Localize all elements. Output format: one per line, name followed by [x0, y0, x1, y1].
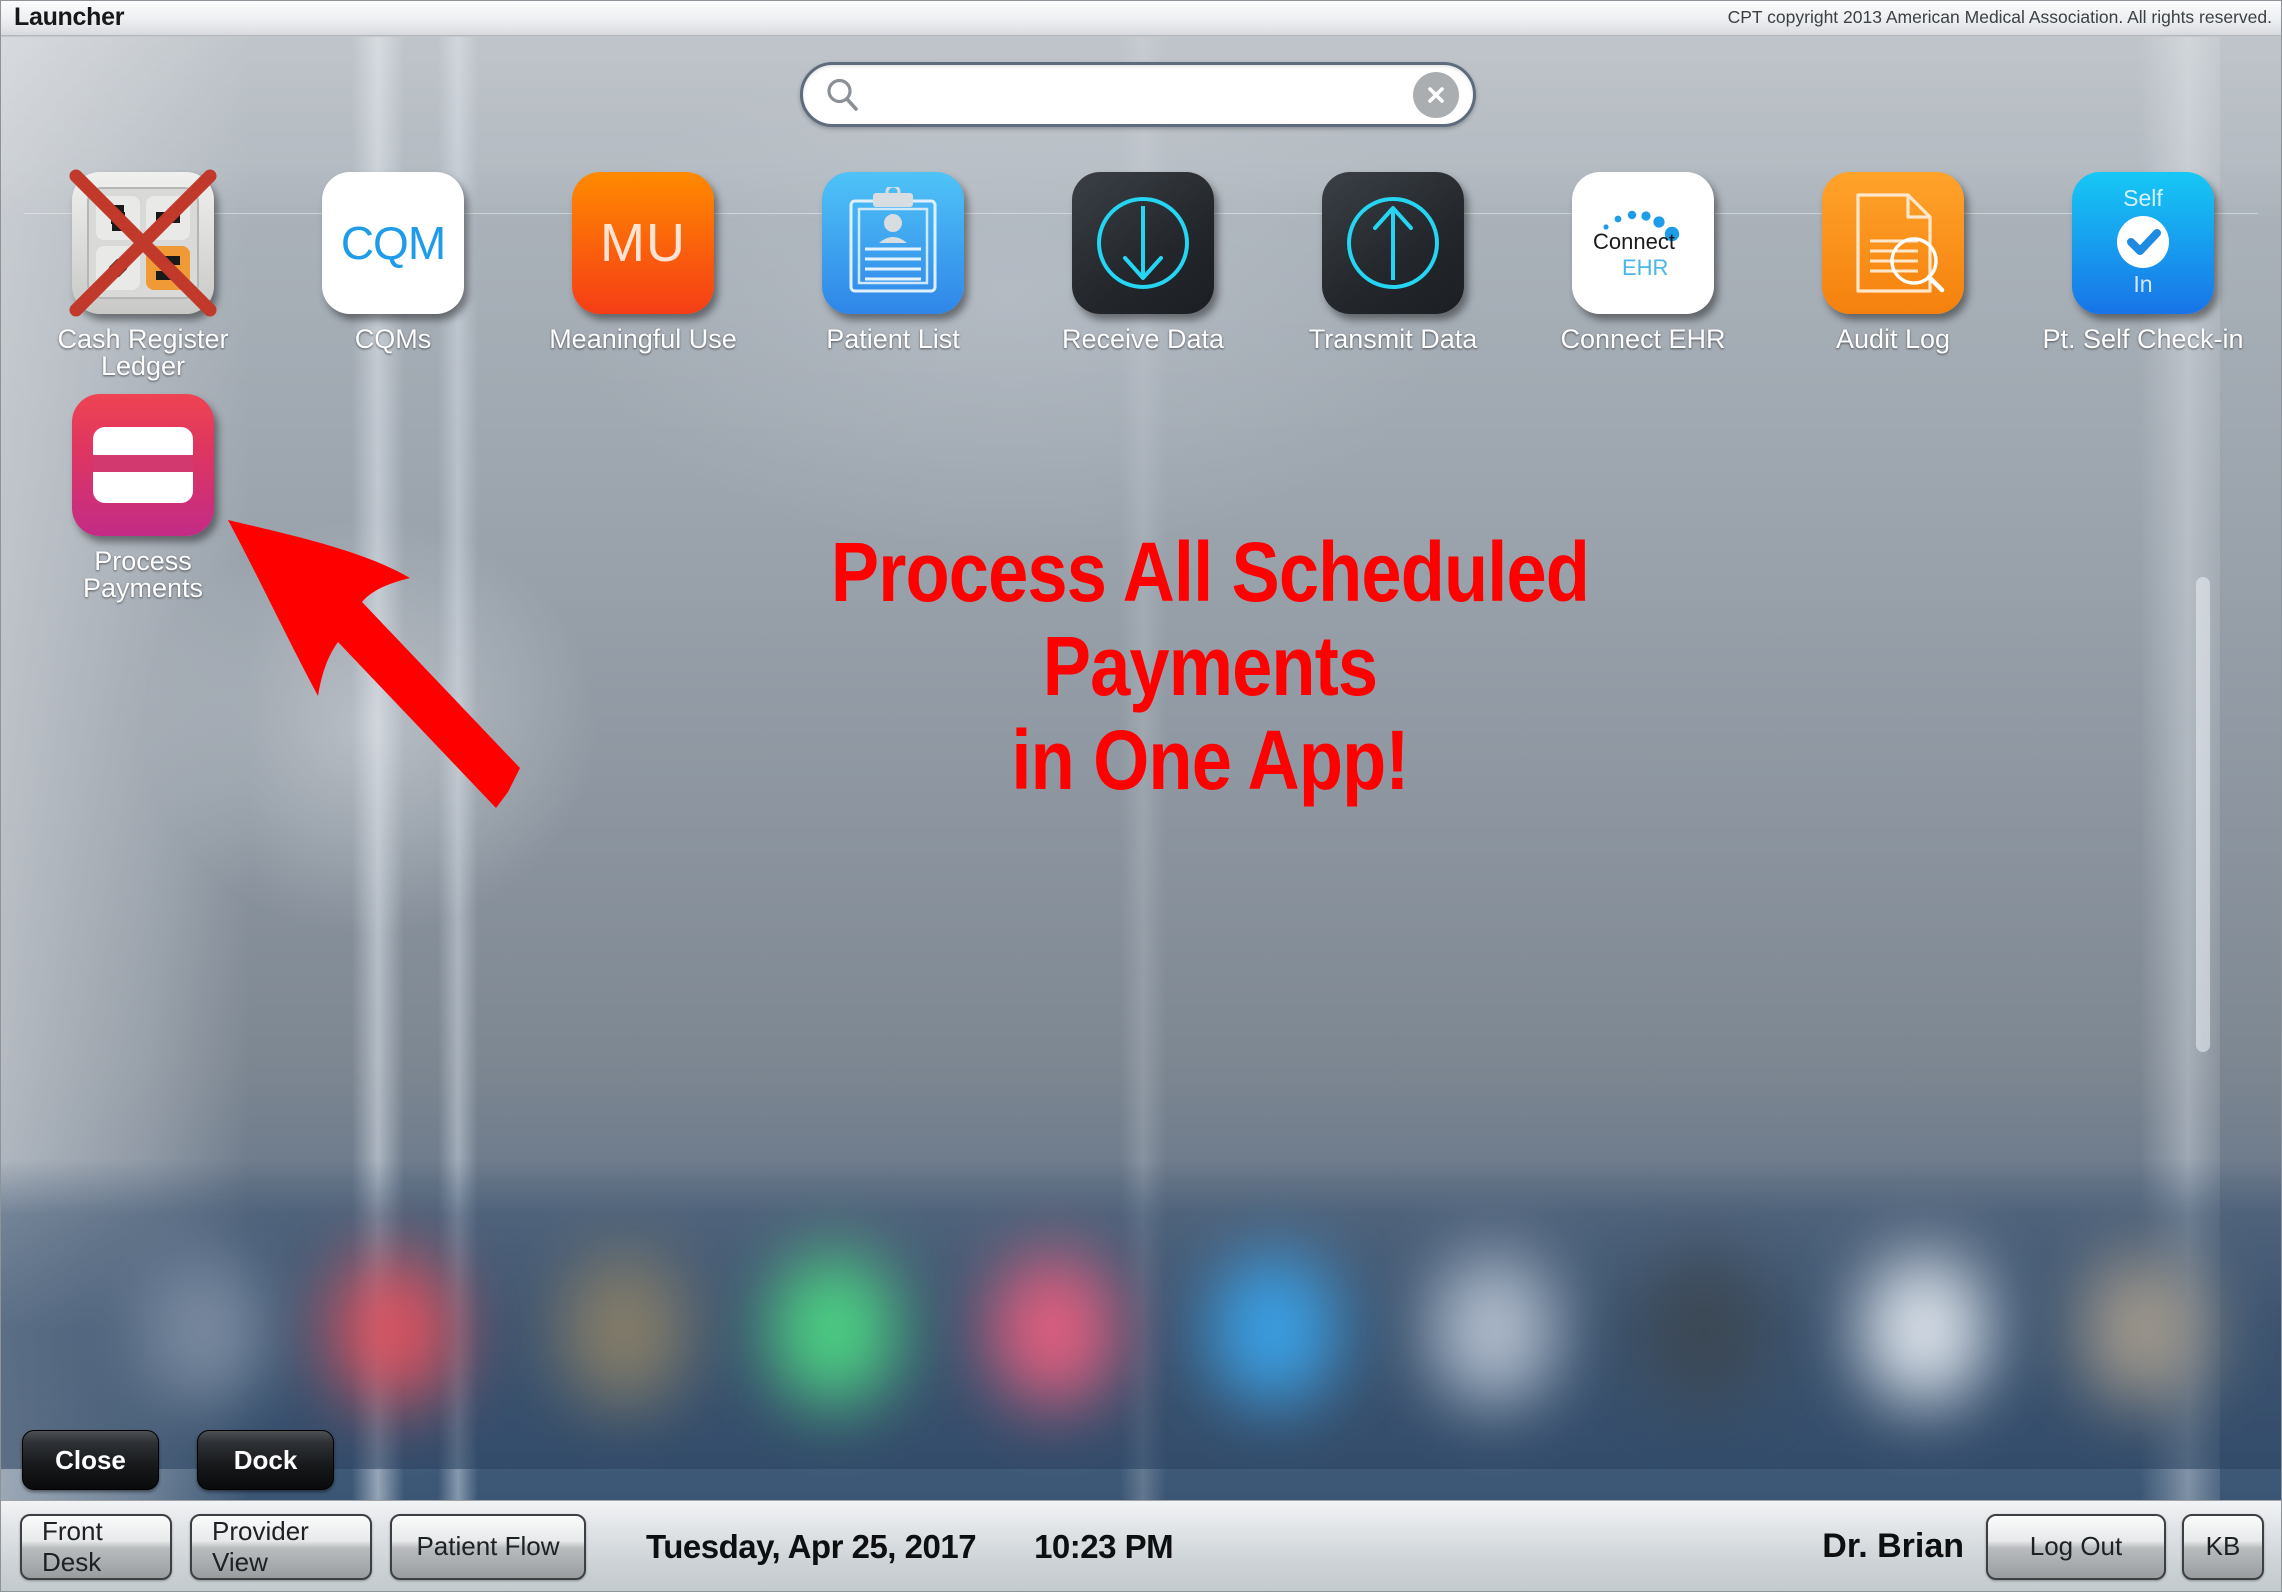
app-pt-self-check-in[interactable]: Self In Pt. Self Check-in	[2018, 158, 2268, 380]
app-cash-register-ledger[interactable]: Cash Register Ledger	[18, 158, 268, 380]
red-x-overlay	[64, 164, 222, 322]
clipboard-person-icon	[822, 172, 964, 314]
document-magnifier-icon	[1822, 172, 1964, 314]
app-process-payments[interactable]: Process Payments	[18, 380, 268, 602]
calculator-icon	[72, 172, 214, 314]
self-badge-top: Self	[2123, 185, 2163, 211]
svg-text:EHR: EHR	[1622, 255, 1668, 280]
log-out-button[interactable]: Log Out	[1986, 1514, 2166, 1580]
dock-button[interactable]: Dock	[197, 1430, 334, 1490]
status-bar: Front Desk Provider View Patient Flow Tu…	[0, 1500, 2282, 1592]
app-cqms[interactable]: CQM CQMs	[268, 158, 518, 380]
copyright-notice: CPT copyright 2013 American Medical Asso…	[1728, 7, 2272, 28]
provider-view-button[interactable]: Provider View	[190, 1514, 372, 1580]
keyboard-button[interactable]: KB	[2182, 1514, 2264, 1580]
current-date: Tuesday, Apr 25, 2017	[646, 1528, 976, 1566]
upload-arrow-circle-icon	[1322, 172, 1464, 314]
download-arrow-circle-icon	[1072, 172, 1214, 314]
app-transmit-data[interactable]: Transmit Data	[1268, 158, 1518, 380]
app-row-2: Process Payments	[0, 380, 2282, 602]
credit-card-icon	[72, 394, 214, 536]
self-badge-bottom: In	[2133, 271, 2152, 297]
connect-ehr-logo-icon: Connect EHR	[1572, 172, 1714, 314]
app-label: Patient List	[788, 326, 998, 353]
search-bar[interactable]	[800, 62, 1476, 127]
cqm-text-icon: CQM	[322, 172, 464, 314]
app-label: Process Payments	[38, 548, 248, 602]
window-title: Launcher	[14, 3, 124, 32]
app-label: CQMs	[288, 326, 498, 353]
app-grid: Cash Register Ledger CQM CQMs MU Meaning…	[0, 158, 2282, 602]
app-receive-data[interactable]: Receive Data	[1018, 158, 1268, 380]
patient-flow-button[interactable]: Patient Flow	[390, 1514, 586, 1580]
front-desk-button[interactable]: Front Desk	[20, 1514, 172, 1580]
self-check-in-icon: Self In	[2072, 172, 2214, 314]
clear-search-icon[interactable]	[1413, 72, 1459, 118]
app-label: Transmit Data	[1288, 326, 1498, 353]
search-icon	[823, 75, 863, 115]
panel-button-row: Close Dock	[22, 1430, 334, 1490]
close-button[interactable]: Close	[22, 1430, 159, 1490]
app-patient-list[interactable]: Patient List	[768, 158, 1018, 380]
app-meaningful-use[interactable]: MU Meaningful Use	[518, 158, 768, 380]
app-label: Meaningful Use	[538, 326, 748, 353]
app-row-1: Cash Register Ledger CQM CQMs MU Meaning…	[0, 158, 2282, 380]
search-input[interactable]	[863, 79, 1413, 110]
current-time: 10:23 PM	[1034, 1528, 1173, 1566]
app-label: Cash Register Ledger	[38, 326, 248, 380]
app-label: Audit Log	[1788, 326, 1998, 353]
app-label: Connect EHR	[1538, 326, 1748, 353]
mu-text-icon: MU	[572, 172, 714, 314]
launcher-window: Launcher CPT copyright 2013 American Med…	[0, 0, 2282, 1592]
app-label: Pt. Self Check-in	[2038, 326, 2248, 353]
app-connect-ehr[interactable]: Connect EHR Connect EHR	[1518, 158, 1768, 380]
app-label: Receive Data	[1038, 326, 1248, 353]
title-bar: Launcher CPT copyright 2013 American Med…	[0, 0, 2282, 36]
current-user: Dr. Brian	[1822, 1527, 1964, 1566]
search-bar-container	[800, 62, 1476, 127]
app-audit-log[interactable]: Audit Log	[1768, 158, 2018, 380]
svg-text:Connect: Connect	[1593, 229, 1675, 254]
mu-icon-text: MU	[600, 212, 686, 274]
cqm-icon-text: CQM	[341, 216, 445, 270]
